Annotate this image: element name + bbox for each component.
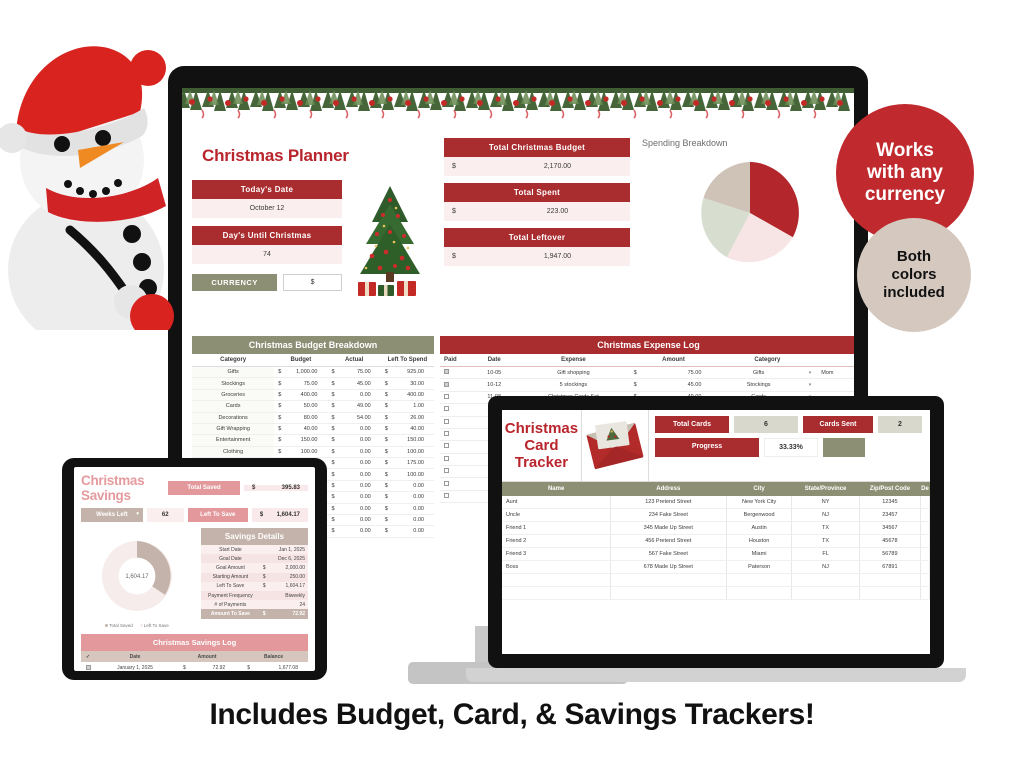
checkbox-icon[interactable]: [444, 431, 449, 436]
detail-label: Goal Date: [201, 554, 260, 563]
table-row[interactable]: Decorations$80.00$54.00$26.00: [192, 412, 434, 423]
total-spent-currency: $: [444, 208, 485, 215]
cell-state: NJ: [792, 561, 859, 574]
checkbox-icon[interactable]: [86, 665, 91, 670]
cell-amount: 72.92: [195, 662, 239, 671]
left-to-save-currency: $: [260, 512, 263, 518]
progress-label: Progress: [655, 438, 759, 457]
donut-label-left-to-save: Left To Save: [144, 623, 169, 628]
savings-detail-row[interactable]: Goal DateDec 6, 2025: [201, 554, 308, 563]
checkbox-icon[interactable]: [444, 382, 449, 387]
detail-label: # of Payments: [201, 600, 260, 609]
christmas-tree-image: [350, 182, 430, 302]
table-row[interactable]: Stockings$75.00$45.00$30.00: [192, 378, 434, 389]
cell-actual: 0.00: [342, 514, 381, 525]
cell-category: Decorations: [192, 412, 274, 423]
table-row[interactable]: Clothing$100.00$0.00$100.00: [192, 446, 434, 457]
cell-left-to-spend: 150.00: [395, 435, 434, 446]
log-col-check: ✓: [81, 651, 95, 662]
savings-log-title: Christmas Savings Log: [81, 634, 308, 651]
cell-zip: 23457: [859, 509, 920, 522]
total-cards-label: Total Cards: [655, 416, 729, 433]
exp-col-paid: Paid: [440, 354, 469, 367]
total-saved-currency: $: [252, 485, 255, 491]
table-row[interactable]: Uncle234 Fake StreetBergenwoodNJ23457: [502, 509, 930, 522]
cell-zip: 56789: [859, 548, 920, 561]
cell-left-to-spend: 0.00: [395, 514, 434, 525]
left-to-save-value: 1,604.17: [277, 512, 300, 518]
expense-log-title: Christmas Expense Log: [440, 336, 854, 354]
cell-left-currency: $: [381, 367, 396, 378]
cell-left-currency: $: [381, 469, 396, 480]
savings-log-table[interactable]: Christmas Savings Log ✓ Date Amount Bala…: [81, 634, 308, 671]
cell-city: Paterson: [726, 561, 791, 574]
cell-budget: 75.00: [289, 378, 328, 389]
detail-currency: $: [260, 582, 270, 591]
card-tracker-title: Christmas Card Tracker: [502, 420, 581, 472]
total-saved-value-cell[interactable]: $ 395.83: [244, 485, 308, 491]
cell-left-currency: $: [381, 435, 396, 446]
cell-left-currency: $: [381, 389, 396, 400]
cell-category: Gift Wrapping: [192, 423, 274, 434]
cell-paid-checkbox[interactable]: [440, 367, 469, 379]
savings-detail-row[interactable]: # of Payments24: [201, 600, 308, 609]
table-row[interactable]: Friend 1345 Made Up StreetAustinTX34567: [502, 522, 930, 535]
ct-col-address: Address: [610, 482, 726, 496]
cell-actual: 0.00: [342, 503, 381, 514]
savings-top-row: Christmas Savings Total Saved $ 395.83: [81, 473, 308, 503]
cell-actual: 0.00: [342, 446, 381, 457]
checkbox-icon[interactable]: [444, 369, 449, 374]
detail-label: Goal Amount: [201, 563, 260, 572]
cell-paid-checkbox[interactable]: [440, 379, 469, 391]
cell-budget: 400.00: [289, 389, 328, 400]
cell-de: [921, 561, 930, 574]
cell-category-dropdown[interactable]: ▾: [798, 367, 815, 379]
cell-name: [502, 574, 610, 587]
pie-svg: [691, 154, 809, 272]
cell-actual-currency: $: [328, 526, 343, 537]
cell-category: Clothing: [192, 446, 274, 457]
cell-zip: [859, 587, 920, 600]
savings-detail-row[interactable]: Goal Amount$2,000.00: [201, 563, 308, 572]
cell-actual: 45.00: [342, 378, 381, 389]
weeks-left-value[interactable]: 62: [147, 508, 184, 522]
cell-state: NY: [792, 496, 859, 509]
cell-actual-currency: $: [328, 423, 343, 434]
planner-summary-cards: Total Christmas Budget $ 2,170.00 Total …: [444, 138, 630, 266]
days-until-christmas-header: Day's Until Christmas: [192, 226, 342, 245]
cell-budget-currency: $: [274, 367, 289, 378]
cell-budget: 100.00: [289, 446, 328, 457]
cell-paid-checkbox[interactable]: [440, 404, 469, 416]
cell-actual: 54.00: [342, 412, 381, 423]
cell-note: [815, 379, 854, 391]
cell-name: Friend 1: [502, 522, 610, 535]
progress-extra-cell: [823, 438, 865, 457]
currency-input[interactable]: $: [283, 274, 342, 291]
budget-col-budget: Budget: [274, 354, 327, 367]
cell-expense: 5 stockings: [519, 379, 627, 391]
total-leftover-currency: $: [444, 253, 485, 260]
total-leftover-value: 1,947.00: [485, 253, 630, 260]
savings-details-table[interactable]: Savings Details Start DateJan 1, 2025Goa…: [201, 528, 308, 628]
cell-state: TX: [792, 535, 859, 548]
cell-amount-currency: $: [628, 367, 648, 379]
ct-col-zip: Zip/Post Code: [859, 482, 920, 496]
cell-city: Houston: [726, 535, 791, 548]
log-col-balance: Balance: [239, 651, 308, 662]
currency-label: CURRENCY: [192, 274, 277, 291]
cell-actual: 0.00: [342, 492, 381, 503]
detail-currency: $: [260, 573, 270, 582]
savings-title: Christmas Savings: [81, 473, 164, 503]
table-row[interactable]: Entertainment$150.00$0.00$150.00: [192, 435, 434, 446]
cell-category: Gifts: [192, 367, 274, 378]
detail-value: Dec 6, 2025: [270, 554, 308, 563]
detail-currency: [260, 600, 270, 609]
laptop-base: [466, 668, 966, 682]
cell-state: TX: [792, 522, 859, 535]
total-spent-value: 223.00: [485, 208, 630, 215]
cell-actual-currency: $: [328, 435, 343, 446]
cell-paid-checkbox[interactable]: [440, 490, 469, 502]
cell-actual-currency: $: [328, 412, 343, 423]
detail-value: 72.92: [270, 609, 308, 618]
cell-name: Boss: [502, 561, 610, 574]
detail-currency: [260, 554, 270, 563]
chevron-down-icon[interactable]: ▾: [136, 511, 139, 517]
cell-category: Groceries: [192, 389, 274, 400]
detail-value: Biweekly: [270, 591, 308, 600]
cell-actual-currency: $: [328, 503, 343, 514]
cell-address: 456 Pretend Street: [610, 535, 726, 548]
cell-left-to-spend: 0.00: [395, 526, 434, 537]
cell-actual-currency: $: [328, 367, 343, 378]
chevron-down-icon[interactable]: ▾: [809, 370, 812, 376]
cell-amount: 45.00: [648, 379, 719, 391]
expense-log-header-row: Paid Date Expense Amount Category: [440, 354, 854, 367]
detail-currency: $: [260, 563, 270, 572]
donut-legend-left-to-save: Left To Save: [140, 623, 169, 628]
table-row[interactable]: January 1, 2025$72.92$1,677.08: [81, 662, 308, 671]
table-row[interactable]: Gifts$1,000.00$75.00$925.00: [192, 367, 434, 378]
cell-city: [726, 587, 791, 600]
table-row[interactable]: 10-05Gift shopping$75.00Gifts▾Mom: [440, 367, 854, 379]
cell-actual: 75.00: [342, 367, 381, 378]
cell-budget-currency: $: [274, 446, 289, 457]
cell-balance-currency: $: [239, 662, 259, 671]
cell-budget-currency: $: [274, 412, 289, 423]
cell-budget-currency: $: [274, 389, 289, 400]
exp-col-amount: Amount: [628, 354, 720, 367]
total-budget-value: 2,170.00: [485, 163, 630, 170]
cell-actual: 49.00: [342, 401, 381, 412]
table-row[interactable]: Boss678 Made Up StreetPatersonNJ67891: [502, 561, 930, 574]
cell-zip: 12345: [859, 496, 920, 509]
exp-col-expense: Expense: [519, 354, 627, 367]
savings-detail-row[interactable]: Starting Amount$250.00: [201, 573, 308, 582]
cell-left-to-spend: 100.00: [395, 469, 434, 480]
savings-donut-chart: 1,604.17 Total Saved Left To Save: [81, 528, 193, 628]
cell-left-to-spend: 175.00: [395, 458, 434, 469]
cell-actual-currency: $: [328, 401, 343, 412]
table-row[interactable]: Friend 3567 Fake StreetMiamiFL56789: [502, 548, 930, 561]
cell-actual-currency: $: [328, 480, 343, 491]
budget-col-left: Left To Spend: [381, 354, 434, 367]
ct-col-de: De: [921, 482, 930, 496]
cell-state: FL: [792, 548, 859, 561]
cell-actual: 0.00: [342, 526, 381, 537]
cell-category: Stockings: [192, 378, 274, 389]
cell-note: Mom: [815, 367, 854, 379]
detail-value: 2,000.00: [270, 563, 308, 572]
cell-de: [921, 496, 930, 509]
cell-city: Miami: [726, 548, 791, 561]
badge-red-line1: Works: [865, 140, 945, 162]
cell-name: Aunt: [502, 496, 610, 509]
cell-left-to-spend: 0.00: [395, 480, 434, 491]
cell-paid-checkbox[interactable]: [440, 416, 469, 428]
cell-category-dropdown[interactable]: ▾: [798, 379, 815, 391]
detail-label: Left To Save: [201, 582, 260, 591]
cell-left-currency: $: [381, 378, 396, 389]
cell-budget-currency: $: [274, 423, 289, 434]
cell-state: [792, 574, 859, 587]
checkbox-icon[interactable]: [444, 481, 449, 486]
cell-left-currency: $: [381, 526, 396, 537]
cell-expense: Gift shopping: [519, 367, 627, 379]
card-tracker-header: Christmas Card Tracker: [502, 410, 930, 482]
christmas-savings-spreadsheet[interactable]: Christmas Savings Total Saved $ 395.83 W…: [74, 467, 315, 671]
days-until-christmas-value[interactable]: 74: [192, 245, 342, 264]
table-row[interactable]: [502, 587, 930, 600]
total-budget-label: Total Christmas Budget: [444, 138, 630, 157]
cell-de: [921, 587, 930, 600]
svg-text:1,604.17: 1,604.17: [125, 574, 149, 580]
total-budget-currency: $: [444, 163, 485, 170]
left-to-save-label: Left To Save: [188, 508, 248, 522]
cell-actual-currency: $: [328, 469, 343, 480]
cell-address: 678 Made Up Street: [610, 561, 726, 574]
cell-left-currency: $: [381, 446, 396, 457]
checkbox-icon[interactable]: [444, 419, 449, 424]
cell-left-currency: $: [381, 412, 396, 423]
table-row[interactable]: Cards$50.00$49.00$1.00: [192, 401, 434, 412]
cell-name: [502, 587, 610, 600]
cell-left-to-spend: 0.00: [395, 503, 434, 514]
cell-paid-checkbox[interactable]: [440, 441, 469, 453]
savings-detail-row[interactable]: Left To Save$1,604.17: [201, 582, 308, 591]
cell-amount-currency: $: [628, 379, 648, 391]
cell-category: Entertainment: [192, 435, 274, 446]
weeks-left-label: Weeks Left ▾: [81, 508, 143, 522]
cell-actual-currency: $: [328, 446, 343, 457]
savings-detail-row[interactable]: Payment FrequencyBiweekly: [201, 591, 308, 600]
cell-state: NJ: [792, 509, 859, 522]
cell-check[interactable]: [81, 662, 95, 671]
table-row[interactable]: Gift Wrapping$40.00$0.00$40.00: [192, 423, 434, 434]
progress-value: 33.33%: [764, 438, 818, 457]
card-tracker-title-cell: Christmas Card Tracker: [502, 410, 582, 481]
exp-col-category: Category: [719, 354, 815, 367]
cell-paid-checkbox[interactable]: [440, 428, 469, 440]
card-recipients-table[interactable]: Name Address City State/Province Zip/Pos…: [502, 482, 930, 600]
cell-address: 123 Pretend Street: [610, 496, 726, 509]
savings-detail-row[interactable]: Start DateJan 1, 2025: [201, 545, 308, 554]
cell-actual-currency: $: [328, 389, 343, 400]
detail-label: Starting Amount: [201, 573, 260, 582]
cell-zip: 67891: [859, 561, 920, 574]
total-cards-value[interactable]: 6: [734, 416, 798, 433]
cell-address: [610, 574, 726, 587]
cell-balance: 1,677.08: [259, 662, 308, 671]
card-table-header-row: Name Address City State/Province Zip/Pos…: [502, 482, 930, 496]
savings-log-header-row: ✓ Date Amount Balance: [81, 651, 308, 662]
todays-date-value[interactable]: October 12: [192, 199, 342, 218]
savings-details-title: Savings Details: [201, 528, 308, 545]
cell-budget: 150.00: [289, 435, 328, 446]
savings-detail-row[interactable]: Amount To Save$72.92: [201, 609, 308, 618]
log-col-date: Date: [95, 651, 175, 662]
cell-name: Friend 2: [502, 535, 610, 548]
cell-city: Bergenwood: [726, 509, 791, 522]
cell-actual: 0.00: [342, 423, 381, 434]
cell-city: New York City: [726, 496, 791, 509]
table-row[interactable]: Groceries$400.00$0.00$400.00: [192, 389, 434, 400]
table-row[interactable]: Friend 2456 Pretend StreetHoustonTX45678: [502, 535, 930, 548]
budget-table-title: Christmas Budget Breakdown: [192, 336, 434, 354]
checkbox-icon[interactable]: [444, 456, 449, 461]
cell-de: [921, 509, 930, 522]
total-spent-value-row[interactable]: $ 223.00: [444, 202, 630, 221]
total-spent-label: Total Spent: [444, 183, 630, 202]
cell-paid-checkbox[interactable]: [440, 466, 469, 478]
badge-red-line3: currency: [865, 184, 945, 206]
cell-zip: 34567: [859, 522, 920, 535]
cell-actual: 0.00: [342, 469, 381, 480]
cell-left-currency: $: [381, 514, 396, 525]
table-row[interactable]: Aunt123 Pretend StreetNew York CityNY123…: [502, 496, 930, 509]
cell-actual-currency: $: [328, 514, 343, 525]
cell-paid-checkbox[interactable]: [440, 453, 469, 465]
chevron-down-icon[interactable]: ▾: [809, 382, 812, 388]
cell-date: 10-12: [469, 379, 519, 391]
detail-label: Start Date: [201, 545, 260, 554]
cell-address: [610, 587, 726, 600]
card-tracker-stats: Total Cards 6 Cards Sent 2 Progress 33.3…: [649, 410, 930, 481]
table-row[interactable]: [502, 574, 930, 587]
cell-name: Uncle: [502, 509, 610, 522]
garland-decoration: [182, 88, 854, 124]
cell-left-currency: $: [381, 458, 396, 469]
badge-taupe-line2: colors: [883, 266, 945, 284]
cell-city: [726, 574, 791, 587]
todays-date-header: Today's Date: [192, 180, 342, 199]
card-stat-row-progress: Progress 33.33%: [655, 438, 922, 457]
cell-address: 345 Made Up Street: [610, 522, 726, 535]
cell-zip: 45678: [859, 535, 920, 548]
cell-actual-currency: $: [328, 492, 343, 503]
cell-budget: 50.00: [289, 401, 328, 412]
checkbox-icon[interactable]: [444, 493, 449, 498]
cell-name: Friend 3: [502, 548, 610, 561]
cell-left-to-spend: 40.00: [395, 423, 434, 434]
budget-table-header-row: Category Budget Actual Left To Spend: [192, 354, 434, 367]
budget-col-actual: Actual: [328, 354, 381, 367]
cell-amount: 75.00: [648, 367, 719, 379]
cards-sent-value[interactable]: 2: [878, 416, 922, 433]
ct-col-name: Name: [502, 482, 610, 496]
left-to-save-value-cell[interactable]: $ 1,604.17: [252, 508, 308, 522]
table-row[interactable]: 10-125 stockings$45.00Stockings▾: [440, 379, 854, 391]
donut-legend: Total Saved Left To Save: [81, 623, 193, 628]
total-budget-value-row[interactable]: $ 2,170.00: [444, 157, 630, 176]
cell-date: January 1, 2025: [95, 662, 175, 671]
cell-left-currency: $: [381, 480, 396, 491]
christmas-card-tracker-spreadsheet[interactable]: Christmas Card Tracker: [502, 410, 930, 654]
cell-paid-checkbox[interactable]: [440, 391, 469, 403]
spending-breakdown-chart: Spending Breakdown Gifts Stockings Cards…: [642, 138, 854, 272]
checkbox-icon[interactable]: [444, 406, 449, 411]
cell-left-to-spend: 400.00: [395, 389, 434, 400]
cell-de: [921, 522, 930, 535]
cell-actual: 0.00: [342, 435, 381, 446]
checkbox-icon[interactable]: [444, 443, 449, 448]
savings-mid-row: 1,604.17 Total Saved Left To Save Saving…: [81, 528, 308, 628]
detail-currency: [260, 545, 270, 554]
exp-col-note: [815, 354, 854, 367]
savings-second-row: Weeks Left ▾ 62 Left To Save $ 1,604.17: [81, 508, 308, 522]
cell-amount-currency: $: [175, 662, 195, 671]
cell-budget: 1,000.00: [289, 367, 328, 378]
cell-left-to-spend: 0.00: [395, 492, 434, 503]
detail-label: Amount To Save: [201, 609, 260, 618]
summary-card-total-leftover: Total Leftover $ 1,947.00: [444, 228, 630, 266]
donut-legend-total-saved: Total Saved: [105, 623, 133, 628]
cell-address: 234 Fake Street: [610, 509, 726, 522]
cell-paid-checkbox[interactable]: [440, 478, 469, 490]
cell-actual-currency: $: [328, 378, 343, 389]
cell-address: 567 Fake Street: [610, 548, 726, 561]
snowman-illustration: [0, 20, 190, 330]
card-title-line1: Christmas Card: [502, 420, 581, 455]
cell-budget: 40.00: [289, 423, 328, 434]
badge-both-colors-included: Both colors included: [857, 218, 971, 332]
cell-date: 10-05: [469, 367, 519, 379]
cell-left-currency: $: [381, 401, 396, 412]
ct-col-city: City: [726, 482, 791, 496]
donut-svg: 1,604.17: [87, 530, 187, 622]
cell-actual: 0.00: [342, 458, 381, 469]
cell-category: Gifts: [719, 367, 797, 379]
checkbox-icon[interactable]: [444, 394, 449, 399]
badge-taupe-line1: Both: [883, 248, 945, 266]
detail-value: Jan 1, 2025: [270, 545, 308, 554]
budget-col-category: Category: [192, 354, 274, 367]
total-leftover-value-row[interactable]: $ 1,947.00: [444, 247, 630, 266]
cards-sent-label: Cards Sent: [803, 416, 873, 433]
cell-left-currency: $: [381, 423, 396, 434]
checkbox-icon[interactable]: [444, 468, 449, 473]
exp-col-date: Date: [469, 354, 519, 367]
total-saved-value: 395.83: [282, 485, 300, 491]
cell-de: [921, 574, 930, 587]
chart-title: Spending Breakdown: [642, 138, 854, 148]
christmas-card-envelope-icon: [582, 419, 648, 473]
cell-category: Cards: [192, 401, 274, 412]
detail-currency: $: [260, 609, 270, 618]
